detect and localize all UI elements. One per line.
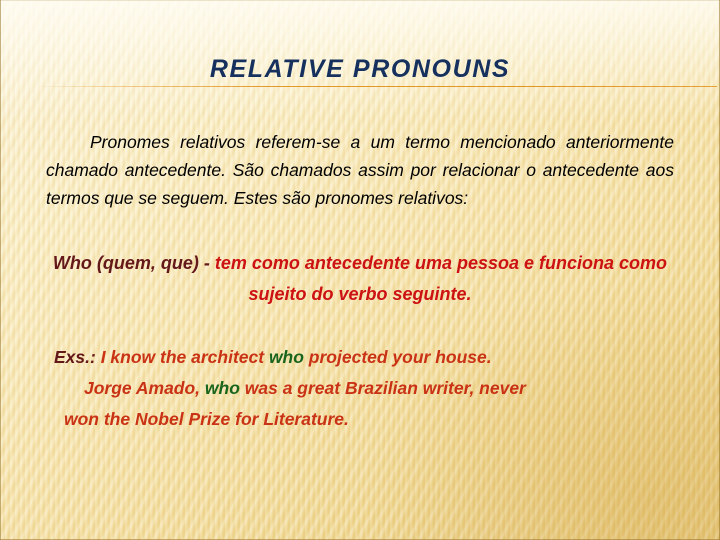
page-title: RELATIVE PRONOUNS xyxy=(0,55,720,84)
example-2-after: was a great Brazilian writer, never xyxy=(240,378,526,398)
intro-paragraph: Pronomes relativos referem-se a um termo… xyxy=(46,128,674,212)
example-2-before: Jorge Amado, xyxy=(84,378,205,398)
title-divider-rule xyxy=(33,86,717,87)
rule-paragraph: Who (quem, que) - tem como antecedente u… xyxy=(30,248,690,310)
rule-definition-line-1: tem como antecedente uma pessoa e xyxy=(215,253,534,273)
example-item-2-continuation: won the Nobel Prize for Literature. xyxy=(26,404,694,435)
example-2-pronoun: who xyxy=(205,378,240,398)
example-1-after: projected your house. xyxy=(304,347,492,367)
rule-term: Who (quem, que) - xyxy=(53,253,215,273)
example-1-pronoun: who xyxy=(269,347,304,367)
slide-canvas: RELATIVE PRONOUNS Pronomes relativos ref… xyxy=(0,0,720,540)
examples-block: Exs.: I know the architect who projected… xyxy=(26,342,694,435)
intro-line-1: Pronomes relativos referem-se a um termo… xyxy=(90,132,556,152)
example-item-2: Jorge Amado, who was a great Brazilian w… xyxy=(26,373,694,404)
intro-line-4: Estes são pronomes relativos: xyxy=(234,188,468,208)
slide-body: Pronomes relativos referem-se a um termo… xyxy=(0,128,720,435)
example-item-1: Exs.: I know the architect who projected… xyxy=(26,342,694,373)
examples-label: Exs.: xyxy=(54,347,101,367)
example-2-continuation-text: won the Nobel Prize for Literature. xyxy=(64,409,349,429)
example-1-before: I know the architect xyxy=(101,347,269,367)
